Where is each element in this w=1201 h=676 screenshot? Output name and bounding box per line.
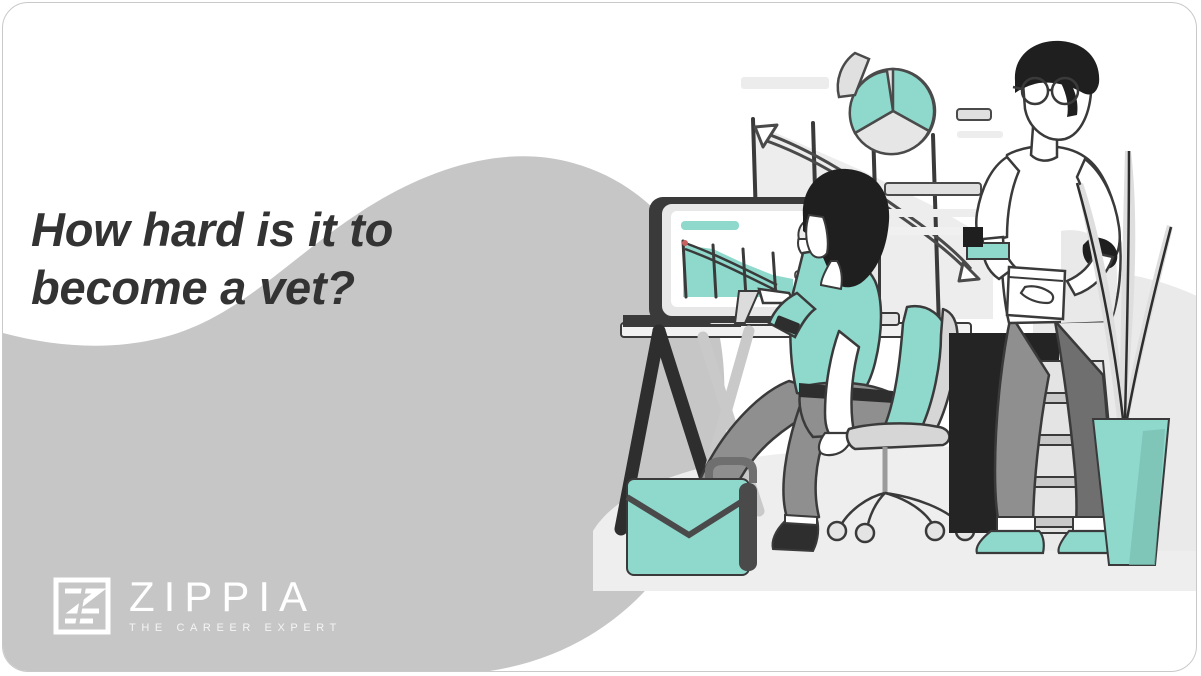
zippia-logo[interactable]: ZIPPIA THE CAREER EXPERT <box>53 575 342 636</box>
page-title-line-2: become a vet? <box>31 259 511 317</box>
promo-card: How hard is it to become a vet? ZIPPIA T… <box>2 2 1197 672</box>
page-title-line-1: How hard is it to <box>31 201 511 259</box>
background-pie-chart <box>838 53 935 154</box>
office-data-analysis-illustration <box>563 31 1197 591</box>
logo-wordmark: ZIPPIA <box>129 575 342 619</box>
page-title: How hard is it to become a vet? <box>31 201 511 317</box>
woman-face <box>806 215 828 258</box>
zippia-z-mark <box>53 577 111 635</box>
logo-tagline: THE CAREER EXPERT <box>129 620 342 636</box>
